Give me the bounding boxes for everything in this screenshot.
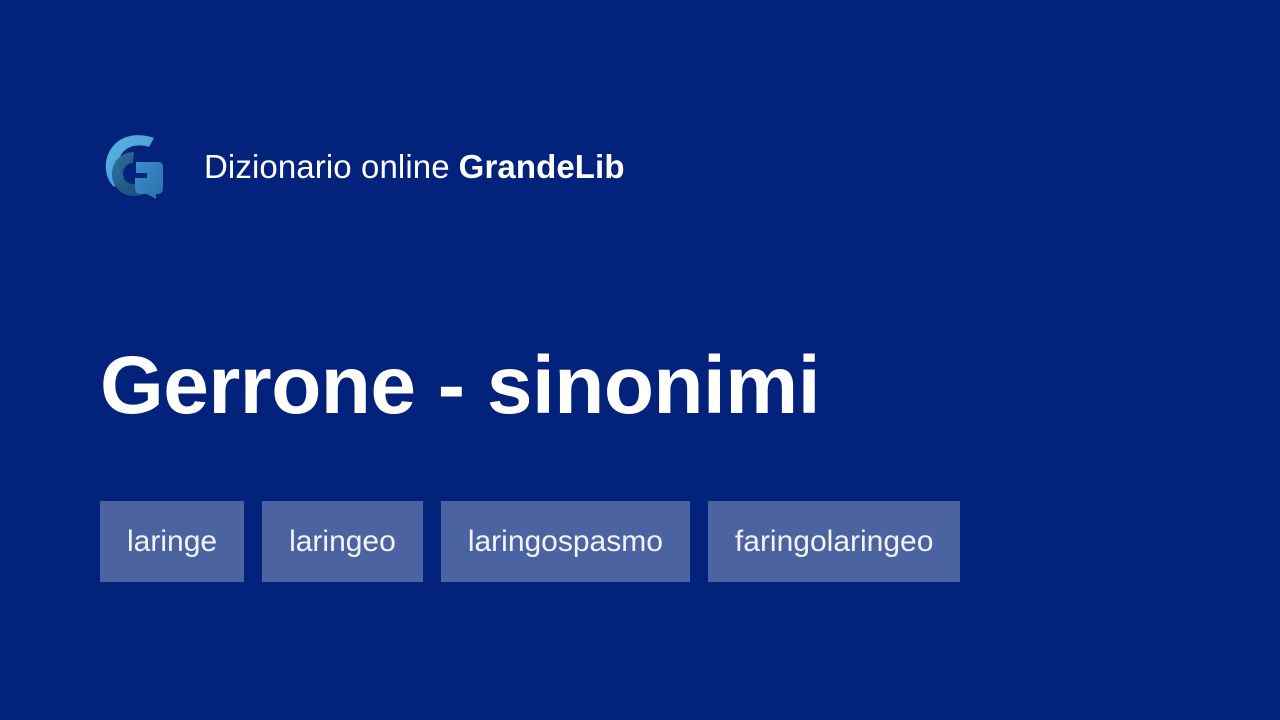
synonym-chip-list: laringe laringeo laringospasmo faringola…	[100, 501, 960, 582]
brand-tagline: Dizionario online	[204, 148, 450, 185]
synonym-chip[interactable]: laringospasmo	[441, 501, 690, 582]
synonym-chip[interactable]: laringeo	[262, 501, 423, 582]
brand-name: GrandeLib	[459, 148, 625, 185]
page-root: Dizionario onlineGrandeLib Gerrone - sin…	[0, 0, 1280, 720]
brand-header[interactable]: Dizionario onlineGrandeLib	[100, 131, 625, 201]
synonym-chip[interactable]: laringe	[100, 501, 244, 582]
synonym-chip[interactable]: faringolaringeo	[708, 501, 960, 582]
grandelib-g-logo-icon	[100, 132, 168, 200]
page-title: Gerrone - sinonimi	[100, 341, 820, 431]
brand-title: Dizionario onlineGrandeLib	[204, 150, 625, 183]
